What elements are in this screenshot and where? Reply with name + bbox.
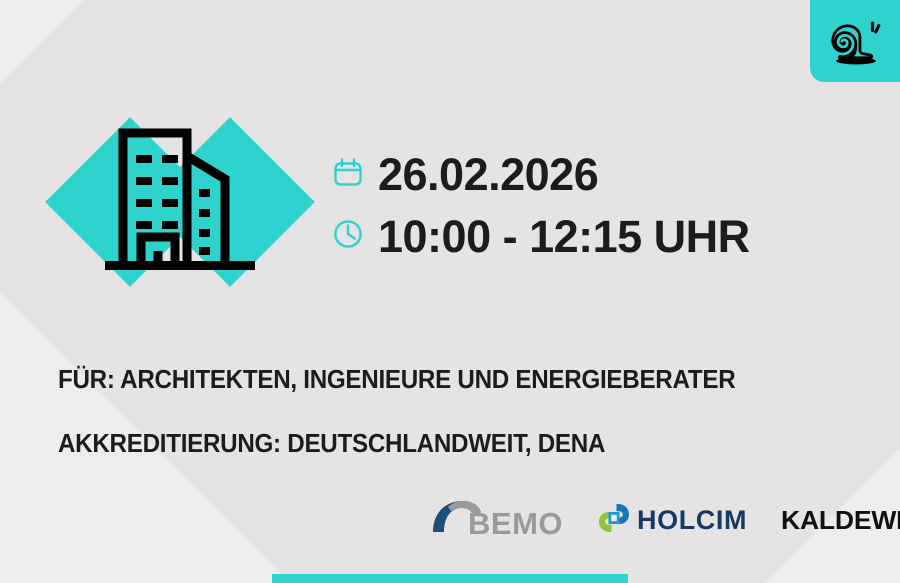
hero-building-graphic xyxy=(60,105,305,300)
calendar-icon xyxy=(332,156,364,193)
event-date-row: 26.02.2026 xyxy=(332,143,750,205)
snail-icon xyxy=(827,17,883,65)
holcim-mark-icon xyxy=(597,501,631,540)
accreditation-line: AKKREDITIERUNG: DEUTSCHLANDWEIT, DENA xyxy=(58,428,605,459)
sponsor-bemo[interactable]: BEMO xyxy=(430,496,563,544)
holcim-label: HOLCIM xyxy=(637,507,747,534)
audience-line: FÜR: ARCHITEKTEN, INGENIEURE UND ENERGIE… xyxy=(58,364,735,395)
watermark-diamond xyxy=(316,396,740,583)
event-info: 26.02.2026 10:00 - 12:15 UHR xyxy=(332,143,750,267)
event-banner: 26.02.2026 10:00 - 12:15 UHR FÜR: ARCHIT… xyxy=(0,0,900,583)
sponsor-logos: BEMO HOLCIM KALDEWEI xyxy=(430,496,880,544)
kaldewei-label: KALDEWEI xyxy=(781,507,900,533)
brand-logo-badge[interactable] xyxy=(810,0,900,82)
event-time-text: 10:00 - 12:15 UHR xyxy=(378,214,750,259)
event-date-text: 26.02.2026 xyxy=(378,152,598,197)
sponsor-kaldewei[interactable]: KALDEWEI xyxy=(781,496,900,544)
office-building-icon xyxy=(105,111,255,281)
bottom-accent-bar xyxy=(272,574,628,583)
bemo-label: BEMO xyxy=(468,508,563,539)
sponsor-holcim[interactable]: HOLCIM xyxy=(597,496,747,544)
event-time-row: 10:00 - 12:15 UHR xyxy=(332,205,750,267)
clock-icon xyxy=(332,218,364,255)
